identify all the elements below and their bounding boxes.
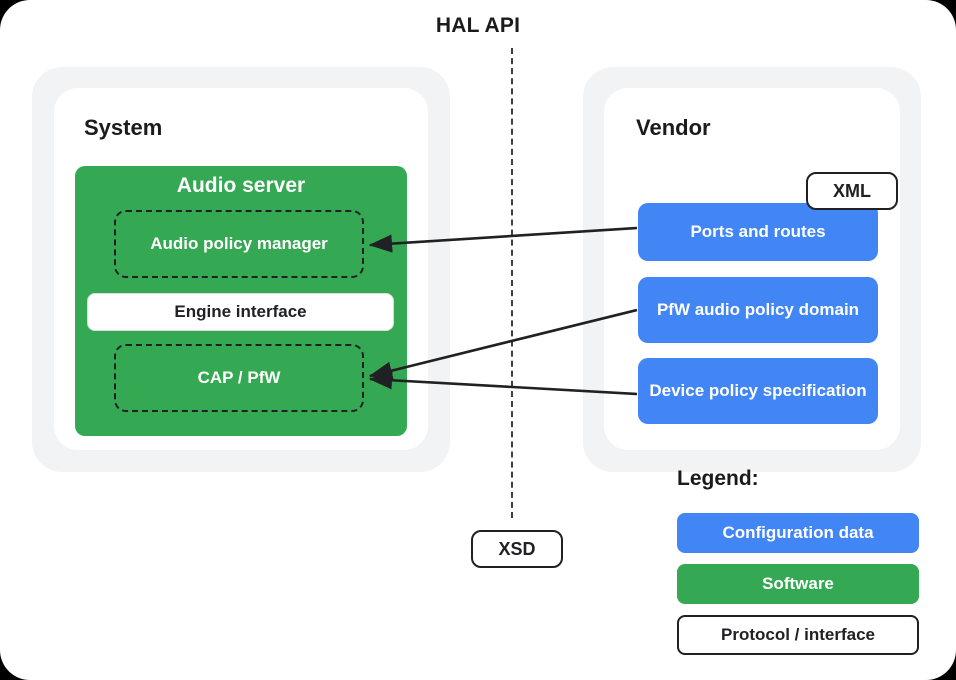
system-heading: System xyxy=(84,115,162,141)
hal-api-divider-line xyxy=(511,48,513,518)
legend-title: Legend: xyxy=(677,467,759,491)
ports-and-routes-box[interactable]: Ports and routes xyxy=(638,203,878,261)
audio-server-title: Audio server xyxy=(75,174,407,198)
audio-server-block: Audio server Audio policy manager Engine… xyxy=(75,166,407,436)
engine-interface-box[interactable]: Engine interface xyxy=(87,293,394,331)
diagram-canvas: HAL API System Audio server Audio policy… xyxy=(0,0,956,680)
cap-pfw-box[interactable]: CAP / PfW xyxy=(114,344,364,412)
xml-badge: XML xyxy=(806,172,898,210)
xsd-badge: XSD xyxy=(471,530,563,568)
page-title: HAL API xyxy=(0,14,956,38)
device-policy-specification-box[interactable]: Device policy specification xyxy=(638,358,878,424)
vendor-heading: Vendor xyxy=(636,115,711,141)
legend-item-protocol-interface: Protocol / interface xyxy=(677,615,919,655)
legend-item-configuration-data: Configuration data xyxy=(677,513,919,553)
audio-policy-manager-box[interactable]: Audio policy manager xyxy=(114,210,364,278)
legend-item-software: Software xyxy=(677,564,919,604)
pfw-audio-policy-domain-box[interactable]: PfW audio policy domain xyxy=(638,277,878,343)
